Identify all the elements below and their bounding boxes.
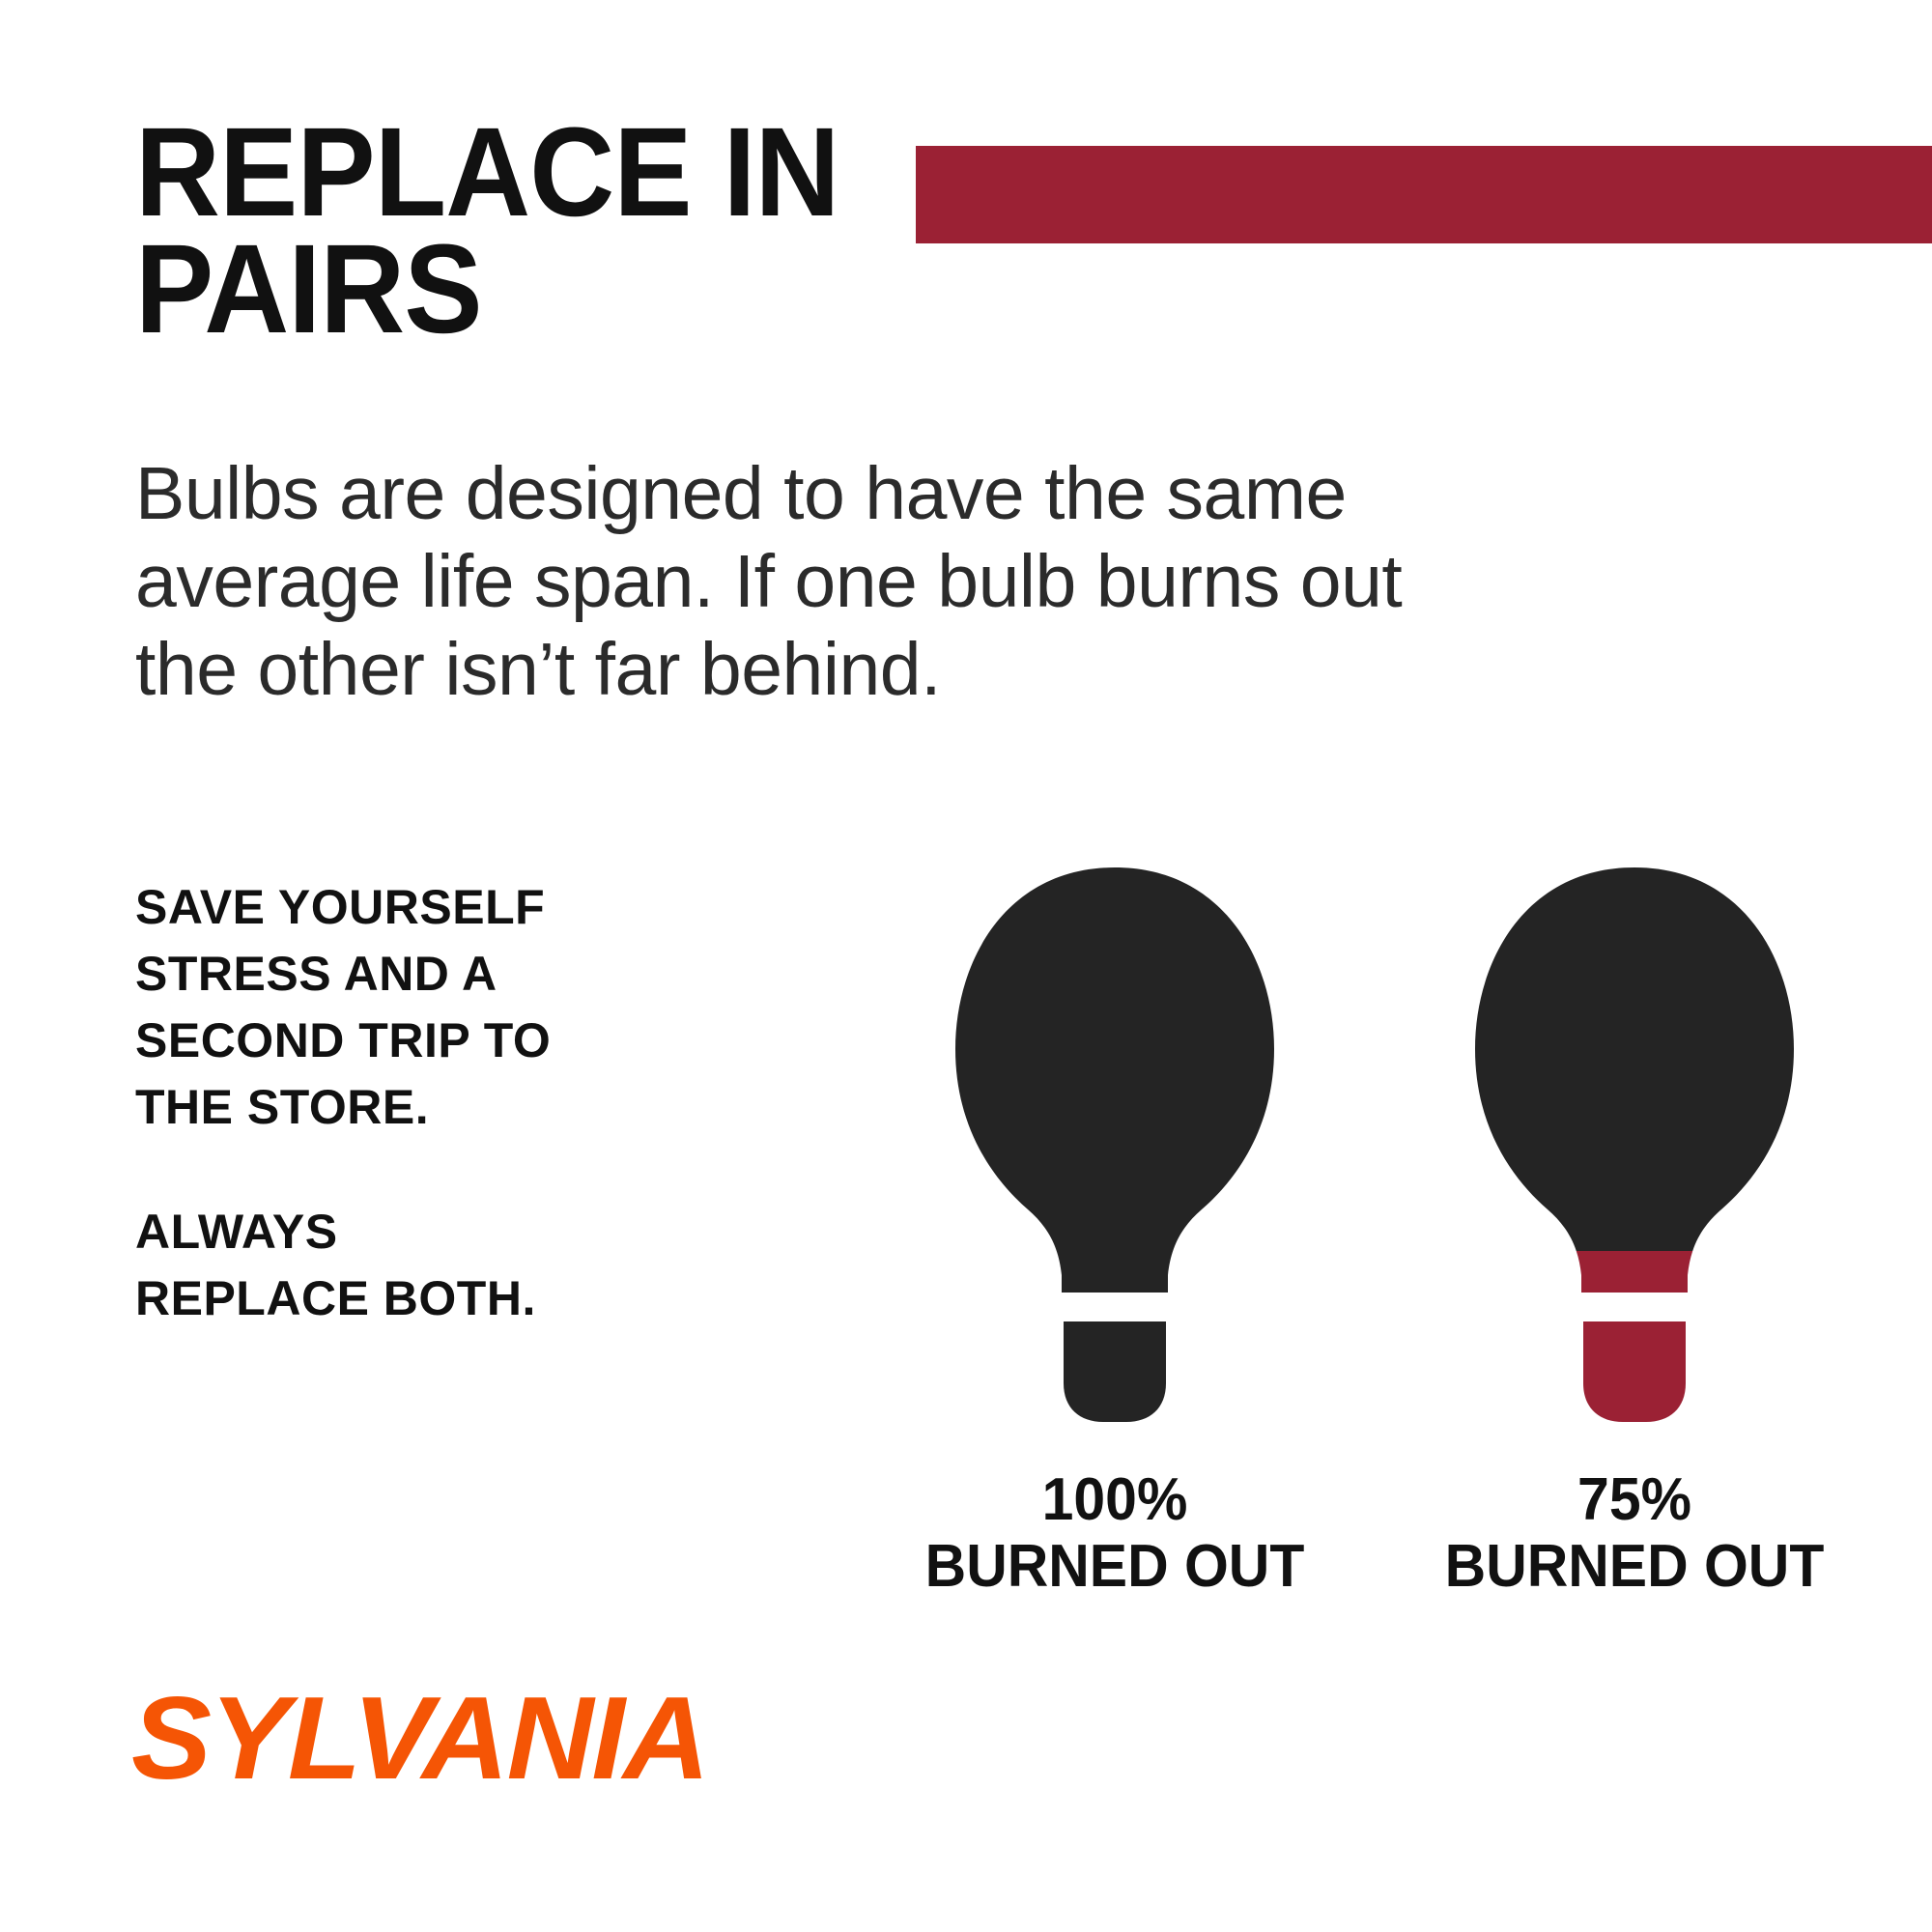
light-bulb-icon bbox=[912, 850, 1318, 1449]
sylvania-logo: SYLVANIA bbox=[131, 1679, 708, 1797]
bulb-globe-and-neck bbox=[1475, 867, 1794, 1293]
intro-line-3: the other isn’t far behind. bbox=[135, 626, 1719, 714]
bulb-illustration-100-percent bbox=[912, 850, 1318, 1449]
intro-paragraph: Bulbs are designed to have the same aver… bbox=[135, 450, 1719, 714]
callout-1-line-1: SAVE YOURSELF bbox=[135, 874, 676, 941]
bulb-caption-2-percent: 75% bbox=[1442, 1466, 1828, 1533]
intro-line-1: Bulbs are designed to have the same bbox=[135, 450, 1719, 538]
callout-1-line-4: THE STORE. bbox=[135, 1074, 676, 1141]
bulb-illustration-group bbox=[898, 850, 1922, 1449]
bulb-caption-1-percent: 100% bbox=[923, 1466, 1308, 1533]
bulb-caption-100-percent: 100% BURNED OUT bbox=[923, 1466, 1308, 1601]
accent-bar bbox=[916, 146, 1932, 243]
bulb-caption-1-status: BURNED OUT bbox=[923, 1533, 1308, 1600]
infographic-canvas: REPLACE IN PAIRS Bulbs are designed to h… bbox=[0, 0, 1932, 1932]
page-title-line-2: PAIRS bbox=[135, 231, 836, 348]
callout-always-replace-both: ALWAYS REPLACE BOTH. bbox=[135, 1199, 676, 1332]
callout-1-line-3: SECOND TRIP TO bbox=[135, 1008, 676, 1074]
callout-column: SAVE YOURSELF STRESS AND A SECOND TRIP T… bbox=[135, 874, 676, 1332]
bulb-caption-2-status: BURNED OUT bbox=[1442, 1533, 1828, 1600]
bulb-base bbox=[1583, 1321, 1686, 1422]
bulb-illustration-75-percent bbox=[1432, 850, 1837, 1449]
bulb-base bbox=[1064, 1321, 1166, 1422]
page-title-line-1: REPLACE IN bbox=[135, 114, 836, 231]
callout-save-yourself-stress: SAVE YOURSELF STRESS AND A SECOND TRIP T… bbox=[135, 874, 676, 1141]
light-bulb-icon bbox=[1432, 850, 1837, 1449]
page-title: REPLACE IN PAIRS bbox=[135, 114, 836, 347]
callout-2-line-1: ALWAYS bbox=[135, 1199, 676, 1265]
bulb-globe-and-neck bbox=[955, 867, 1274, 1293]
bulb-caption-75-percent: 75% BURNED OUT bbox=[1442, 1466, 1828, 1601]
callout-1-line-2: STRESS AND A bbox=[135, 941, 676, 1008]
intro-line-2: average life span. If one bulb burns out bbox=[135, 538, 1719, 626]
callout-2-line-2: REPLACE BOTH. bbox=[135, 1265, 676, 1332]
